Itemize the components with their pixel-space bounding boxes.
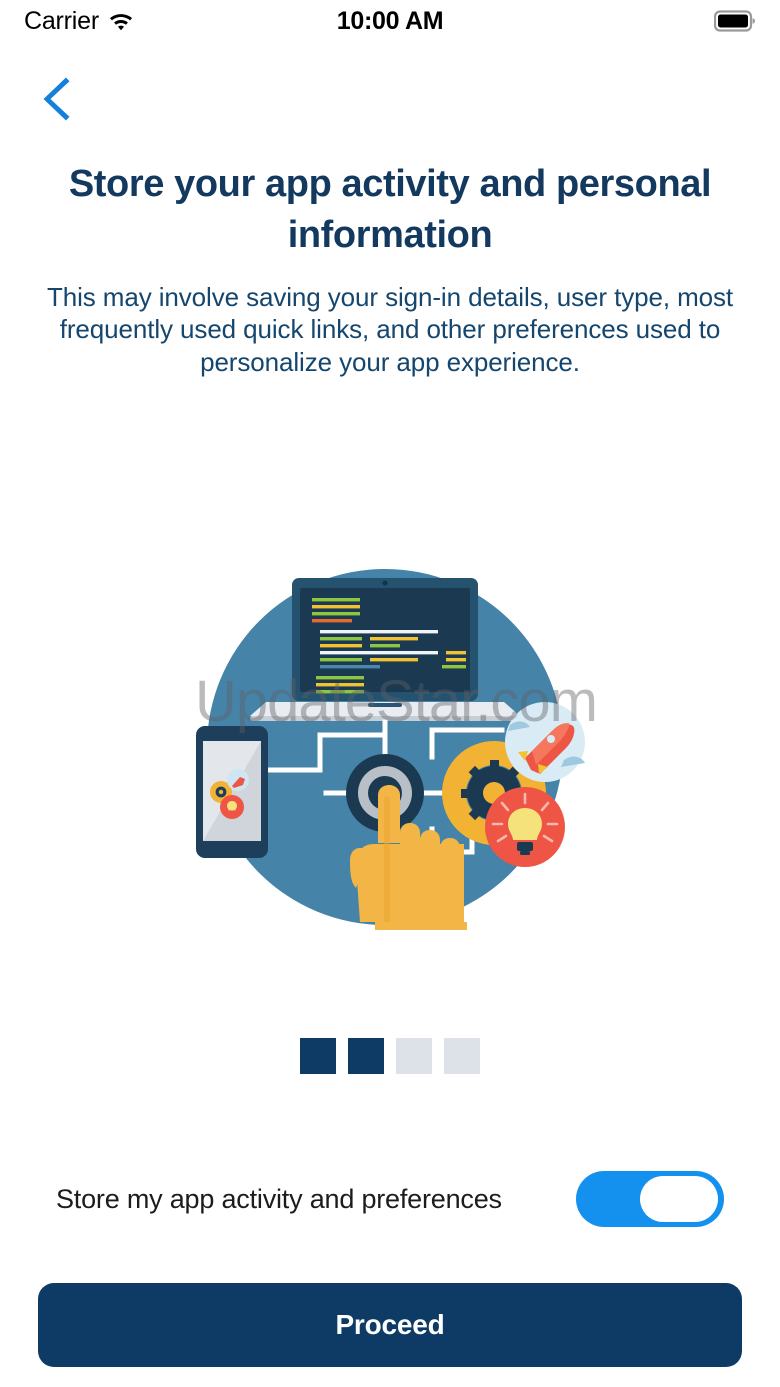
- status-bar-right: [443, 10, 756, 32]
- pagination-dot-2[interactable]: [348, 1038, 384, 1074]
- store-activity-label: Store my app activity and preferences: [56, 1184, 502, 1215]
- pagination-dot-1[interactable]: [300, 1038, 336, 1074]
- status-bar-time: 10:00 AM: [337, 7, 443, 36]
- store-activity-row: Store my app activity and preferences: [56, 1168, 724, 1230]
- wifi-icon: [108, 11, 134, 31]
- toggle-knob: [640, 1176, 718, 1222]
- carrier-label: Carrier: [24, 9, 99, 34]
- pagination-dot-4[interactable]: [444, 1038, 480, 1074]
- page-subtitle: This may involve saving your sign-in det…: [44, 281, 736, 378]
- status-bar: Carrier 10:00 AM: [0, 0, 780, 42]
- store-activity-toggle[interactable]: [576, 1171, 724, 1227]
- app-screen: Carrier 10:00 AM: [0, 0, 780, 1387]
- page-title: Store your app activity and personal inf…: [40, 159, 740, 261]
- battery-full-icon: [714, 10, 756, 32]
- proceed-button[interactable]: Proceed: [38, 1283, 742, 1367]
- back-button[interactable]: [24, 68, 86, 130]
- chevron-left-icon: [38, 74, 72, 124]
- status-bar-left: Carrier: [24, 9, 337, 34]
- app-personalization-illustration: [180, 552, 600, 942]
- pagination: [0, 1038, 780, 1074]
- pagination-dot-3[interactable]: [396, 1038, 432, 1074]
